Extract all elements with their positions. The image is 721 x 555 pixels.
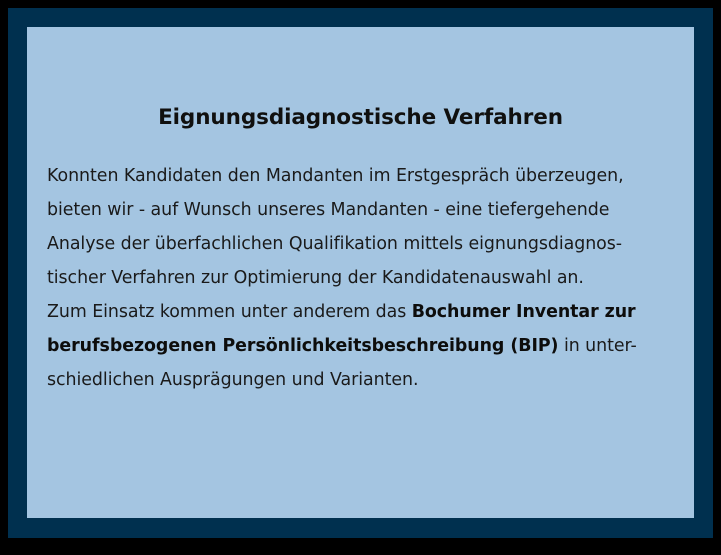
page-title: Eignungsdiagnostische Verfahren — [27, 107, 694, 129]
body-text-run: schiedlichen Ausprägungen und Varianten. — [47, 370, 418, 390]
body-text-run: Analyse der überfachlichen Qualifikation… — [47, 234, 622, 254]
content-panel: Eignungsdiagnostische Verfahren Konnten … — [27, 27, 694, 518]
body-line: schiedlichen Ausprägungen und Varianten. — [47, 363, 683, 397]
body-text-emphasis: berufsbezogenen Persönlichkeitsbeschreib… — [47, 336, 558, 356]
body-paragraph: Konnten Kandidaten den Mandanten im Erst… — [47, 159, 683, 397]
body-text-run: tischer Verfahren zur Optimierung der Ka… — [47, 268, 584, 288]
body-text-run: in unter- — [558, 336, 636, 356]
card-frame: Eignungsdiagnostische Verfahren Konnten … — [8, 8, 713, 538]
body-text-run: bieten wir - auf Wunsch unseres Mandante… — [47, 200, 609, 220]
body-text-run: Zum Einsatz kommen unter anderem das — [47, 302, 412, 322]
body-text-emphasis: Bochumer Inventar zur — [412, 302, 636, 322]
screenshot-stage: Eignungsdiagnostische Verfahren Konnten … — [0, 0, 721, 555]
body-line: bieten wir - auf Wunsch unseres Mandante… — [47, 193, 683, 227]
body-line: tischer Verfahren zur Optimierung der Ka… — [47, 261, 683, 295]
body-line: Konnten Kandidaten den Mandanten im Erst… — [47, 159, 683, 193]
body-text-run: Konnten Kandidaten den Mandanten im Erst… — [47, 166, 624, 186]
body-line: berufsbezogenen Persönlichkeitsbeschreib… — [47, 329, 683, 363]
body-line: Analyse der überfachlichen Qualifikation… — [47, 227, 683, 261]
body-line: Zum Einsatz kommen unter anderem das Boc… — [47, 295, 683, 329]
